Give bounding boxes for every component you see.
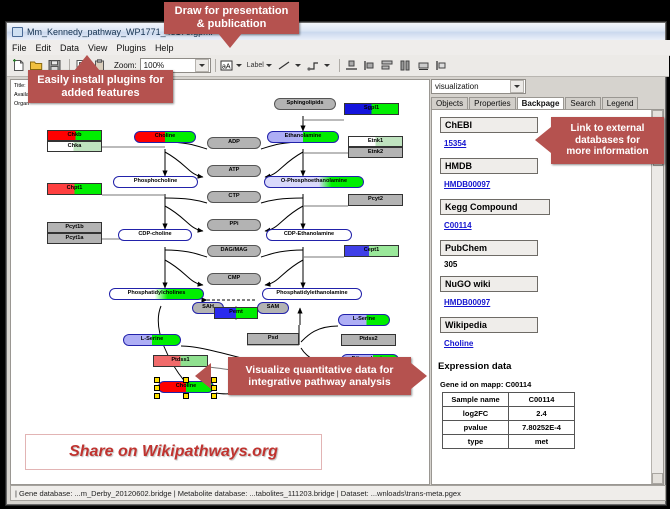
backpage-link-kegg[interactable]: C00114 (444, 221, 472, 230)
distribute-icon[interactable] (380, 58, 395, 73)
callout-draw-text: Draw for presentation& publication (169, 2, 295, 33)
line-tool-dropdown[interactable] (277, 59, 301, 72)
zoom-label: Zoom: (114, 61, 137, 70)
node-ppi[interactable]: PPi (207, 219, 261, 231)
connector-tool-dropdown[interactable] (306, 59, 330, 72)
selection-handle[interactable] (154, 393, 160, 399)
callout-link-text: Link to externaldatabases formore inform… (560, 120, 654, 161)
node-atp[interactable]: ATP (207, 165, 261, 177)
side-tabs: Objects Properties Backpage Search Legen… (431, 95, 662, 110)
label-tool-dropdown[interactable]: Label (247, 62, 272, 69)
toolbar-separator-3 (339, 59, 340, 72)
screenshot-root: Mm_Kennedy_pathway_WP1771_45176.gpml Fil… (0, 0, 670, 509)
callout-visualize-arrow-left (195, 363, 211, 389)
bring-front-icon[interactable] (434, 58, 449, 73)
callout-plugins-arrow (74, 55, 100, 71)
cell-value: 2.4 (509, 407, 575, 421)
selection-handle[interactable] (211, 393, 217, 399)
node-adp[interactable]: ADP (207, 137, 261, 149)
menu-item-file[interactable]: File (12, 43, 27, 53)
node-dag-mag[interactable]: DAG/MAG (207, 245, 261, 257)
expression-table: Sample name C00114 log2FC 2.4 pvalue 7.8… (442, 392, 575, 449)
tab-search[interactable]: Search (565, 97, 600, 109)
backpage-header-kegg: Kegg Compound (440, 199, 550, 215)
gene-id-line: Gene id on mapp: C00114 (440, 380, 663, 389)
app-icon (11, 26, 23, 37)
node-sgpl1[interactable]: Sgpl1 (344, 103, 399, 115)
menu-item-help[interactable]: Help (155, 43, 174, 53)
selection-handle[interactable] (154, 377, 160, 383)
selection-handle[interactable] (211, 377, 217, 383)
line-icon (277, 59, 292, 72)
text-icon: aA (220, 59, 233, 72)
callout-draw-arrow (217, 32, 243, 48)
node-chpt1[interactable]: Chpt1 (47, 183, 102, 195)
cell-value: 7.80252E-4 (509, 421, 575, 435)
node-pcyt1a[interactable]: Pcyt1a (47, 233, 102, 244)
node-pcyt2[interactable]: Pcyt2 (348, 194, 403, 206)
callout-link-arrow (535, 127, 551, 153)
visualization-select[interactable]: visualization (431, 79, 526, 94)
table-row: log2FC 2.4 (443, 407, 575, 421)
menu-item-data[interactable]: Data (60, 43, 79, 53)
group-icon[interactable] (416, 58, 431, 73)
title-bar: Mm_Kennedy_pathway_WP1771_45176.gpml (7, 23, 665, 41)
backpage-link-wikipedia[interactable]: Choline (444, 339, 473, 348)
node-sphingolipids[interactable]: Sphingolipids (274, 98, 336, 110)
menu-item-edit[interactable]: Edit (36, 43, 52, 53)
menu-bar: File Edit Data View Plugins Help (7, 40, 670, 56)
cell-value: C00114 (509, 393, 575, 407)
backpage-header-hmdb: HMDB (440, 158, 538, 174)
node-etnk1[interactable]: Etnk1 (348, 136, 403, 147)
node-etnk2[interactable]: Etnk2 (348, 147, 403, 158)
node-phosphatidylcholines[interactable]: Phosphatidylcholines (109, 288, 204, 300)
node-sam[interactable]: SAM (257, 302, 289, 314)
backpage-header-nugo: NuGO wiki (440, 276, 538, 292)
chevron-down-icon[interactable] (510, 80, 524, 93)
connector-icon (306, 59, 321, 72)
callout-plugins: Easily install plugins foradded features (28, 70, 173, 103)
selection-handle[interactable] (154, 385, 160, 391)
node-l-serine-right[interactable]: L-Serine (338, 314, 390, 326)
selection-handle[interactable] (183, 393, 189, 399)
backpage-header-wikipedia: Wikipedia (440, 317, 538, 333)
chevron-down-icon[interactable] (195, 59, 209, 72)
backpage-content[interactable]: ChEBI 15354 HMDB HMDB00097 Kegg Compound… (431, 109, 664, 485)
backpage-link-hmdb[interactable]: HMDB00097 (444, 180, 490, 189)
label-tool-label: Label (247, 62, 264, 69)
node-cmp[interactable]: CMP (207, 273, 261, 285)
table-row: pvalue 7.80252E-4 (443, 421, 575, 435)
node-phosphatidylethanolamine[interactable]: Phosphatidylethanolamine (262, 288, 362, 300)
callout-link: Link to externaldatabases formore inform… (551, 117, 664, 164)
table-row: Sample name C00114 (443, 393, 575, 407)
expression-data-title: Expression data (438, 361, 663, 372)
backpage-header-chebi: ChEBI (440, 117, 538, 133)
visualization-value: visualization (435, 82, 479, 91)
menu-item-view[interactable]: View (88, 43, 107, 53)
status-text: | Gene database: ...m_Derby_20120602.bri… (15, 489, 461, 498)
scroll-down-icon[interactable] (652, 473, 663, 484)
node-l-serine-left[interactable]: L-Serine (123, 334, 181, 346)
node-pemt[interactable]: Pemt (214, 307, 258, 319)
text-tool-dropdown[interactable]: aA (220, 59, 242, 72)
svg-text:aA: aA (222, 64, 231, 71)
new-file-icon[interactable] (11, 58, 26, 73)
cell-key: Sample name (443, 393, 509, 407)
callout-plugins-text: Easily install plugins foradded features (31, 71, 170, 102)
backpage-value-pubchem: 305 (444, 260, 663, 269)
status-bar: | Gene database: ...m_Derby_20120602.bri… (10, 485, 666, 501)
node-ethanolamine-top[interactable]: Ethanolamine (267, 131, 339, 143)
selection-handle[interactable] (211, 385, 217, 391)
cell-key: pvalue (443, 421, 509, 435)
callout-share: Share on Wikipathways.org (25, 434, 322, 470)
node-choline[interactable]: Choline (134, 131, 196, 143)
node-chkb[interactable]: Chkb (47, 130, 102, 141)
selection-handle[interactable] (183, 377, 189, 383)
menu-item-plugins[interactable]: Plugins (116, 43, 146, 53)
node-pcyt1b[interactable]: Pcyt1b (47, 222, 102, 233)
callout-visualize-arrow-right (411, 363, 427, 389)
node-chka[interactable]: Chka (47, 141, 102, 152)
node-phosphocholine[interactable]: Phosphocholine (113, 176, 198, 188)
panel-scrollbar[interactable] (651, 110, 663, 484)
zoom-value: 100% (144, 61, 164, 70)
node-psd[interactable]: Psd (247, 333, 299, 345)
node-cdp-ethanolamine[interactable]: CDP-Ethanolamine (266, 229, 352, 241)
node-ctp[interactable]: CTP (207, 191, 261, 203)
tab-properties[interactable]: Properties (469, 97, 515, 109)
callout-draw: Draw for presentation& publication (164, 2, 299, 34)
tab-objects[interactable]: Objects (431, 97, 468, 109)
backpage-link-chebi[interactable]: 15354 (444, 139, 466, 148)
backpage-link-nugo[interactable]: HMDB00097 (444, 298, 490, 307)
tab-legend[interactable]: Legend (602, 97, 639, 109)
toolbar-separator-2 (215, 59, 216, 72)
node-cdp-choline[interactable]: CDP-choline (118, 229, 192, 241)
align-left-icon[interactable] (362, 58, 377, 73)
node-cept1[interactable]: Cept1 (344, 245, 399, 257)
callout-share-text: Share on Wikipathways.org (69, 443, 278, 461)
cell-value: met (509, 435, 575, 449)
callout-visualize: Visualize quantitative data forintegrati… (228, 357, 411, 395)
cell-key: type (443, 435, 509, 449)
table-row: type met (443, 435, 575, 449)
cell-key: log2FC (443, 407, 509, 421)
align-bottom-icon[interactable] (344, 58, 359, 73)
backpage-header-pubchem: PubChem (440, 240, 538, 256)
size-icon[interactable] (398, 58, 413, 73)
node-ptdss2[interactable]: Ptdss2 (341, 334, 396, 346)
pathway-canvas[interactable]: Title: Availa Organ (10, 79, 430, 485)
node-o-phosphoethanolamine[interactable]: O-Phosphoethanolamine (264, 176, 364, 188)
callout-visualize-text: Visualize quantitative data forintegrati… (239, 361, 399, 391)
